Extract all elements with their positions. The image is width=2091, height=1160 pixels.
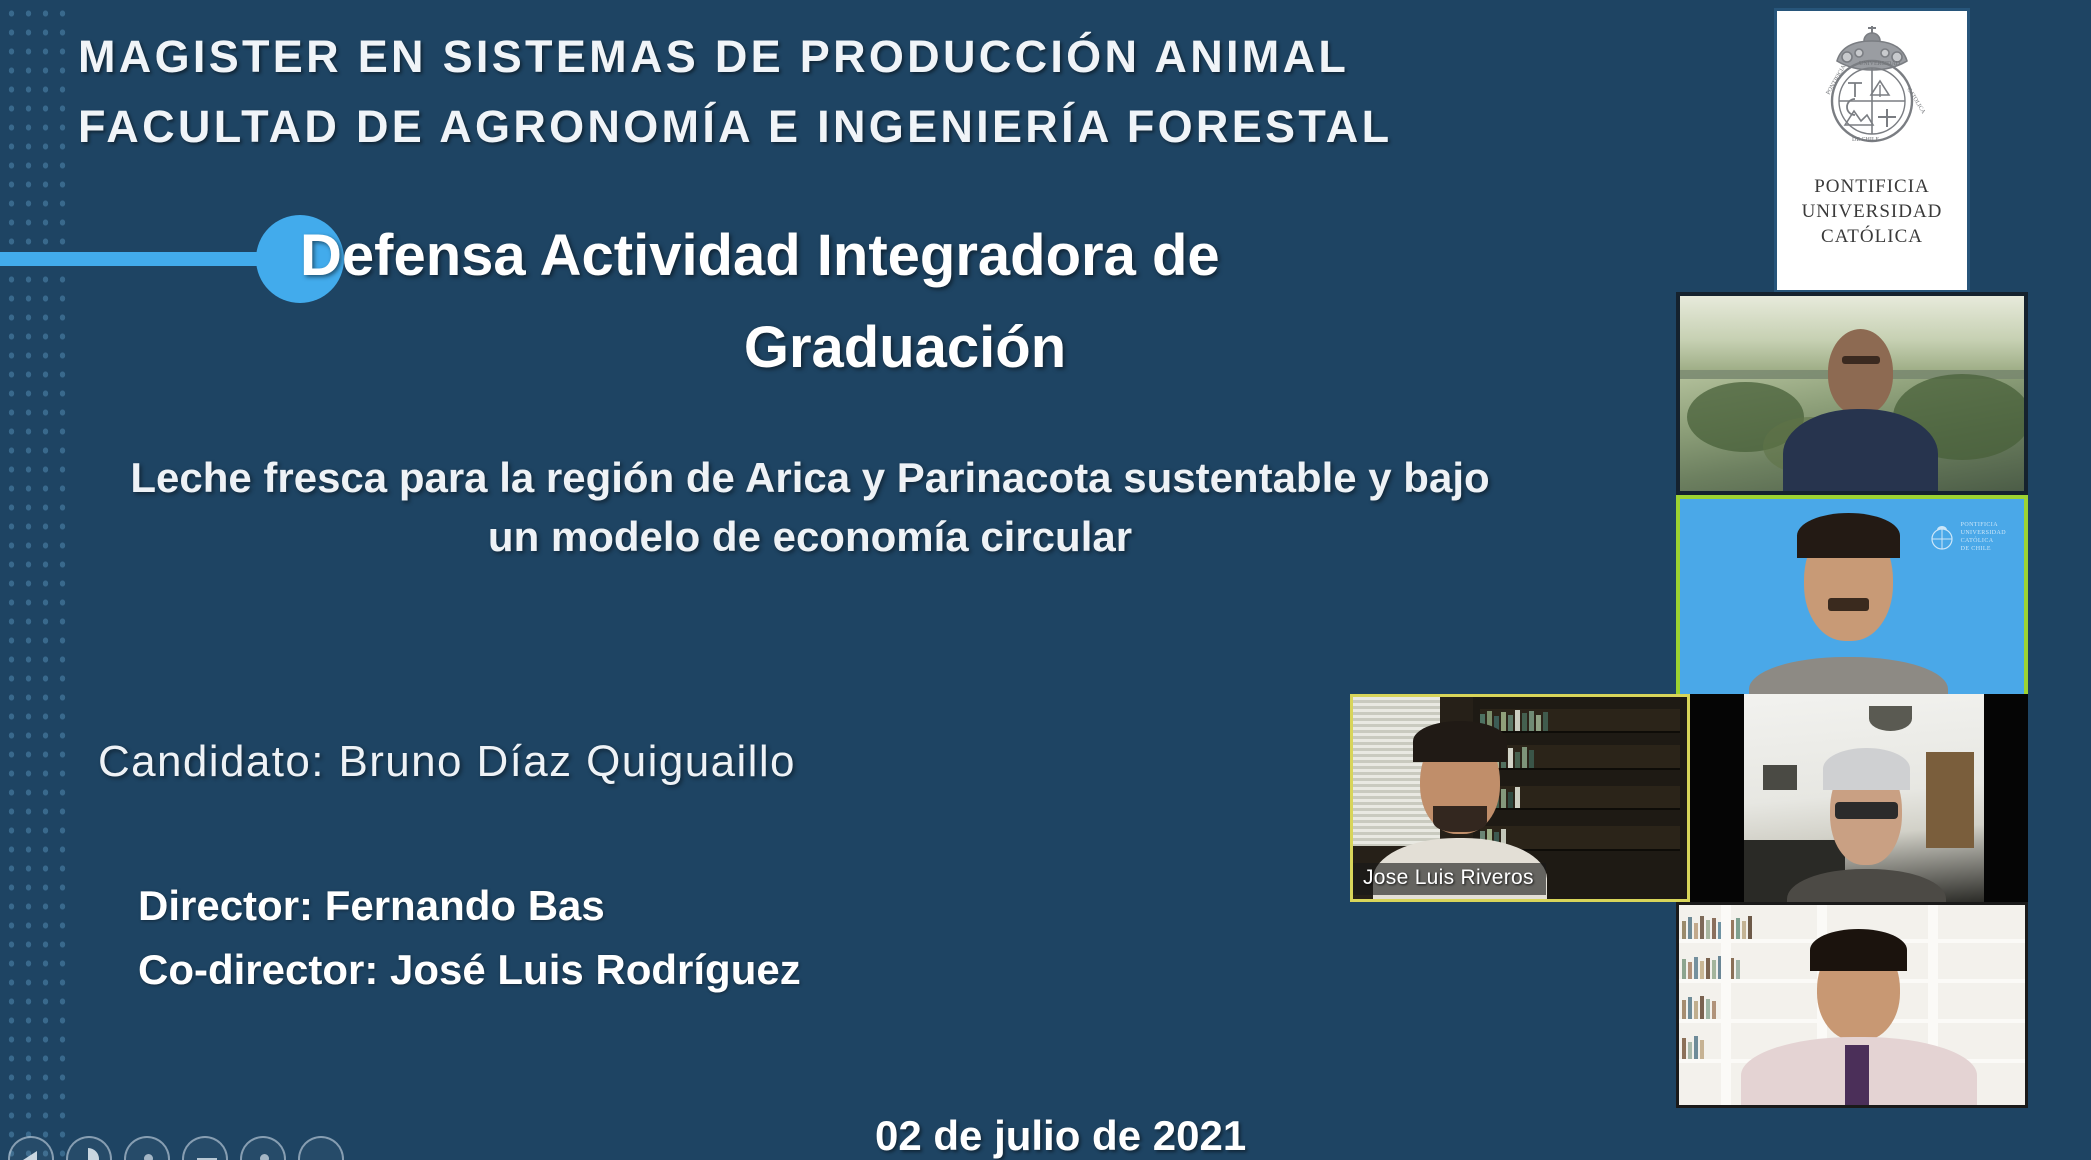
- puc-logo-line-2: UNIVERSIDAD: [1802, 199, 1943, 224]
- accent-line: [0, 252, 292, 266]
- codirector-line: Co-director: José Luis Rodríguez: [138, 938, 801, 1002]
- candidate-line: Candidato: Bruno Díaz Quiguaillo: [98, 737, 796, 787]
- slide-header: MAGISTER EN SISTEMAS DE PRODUCCIÓN ANIMA…: [78, 22, 1778, 162]
- participant-torso: [1783, 409, 1938, 495]
- previous-slide-icon[interactable]: [8, 1136, 54, 1160]
- presentation-toolbar[interactable]: [8, 1136, 344, 1160]
- participant-head: [1828, 329, 1893, 415]
- directors-block: Director: Fernando Bas Co-director: José…: [138, 874, 801, 1002]
- tile-background-detail: [1721, 905, 1731, 1105]
- pointer-icon[interactable]: [124, 1136, 170, 1160]
- puc-logo-line-1: PONTIFICIA: [1802, 174, 1943, 199]
- puc-logo-text: PONTIFICIA UNIVERSIDAD CATÓLICA: [1802, 174, 1943, 249]
- participant-hair: [1413, 721, 1507, 761]
- video-tile-participant-1[interactable]: [1676, 292, 2028, 495]
- svg-text:UNIVERSIDAD: UNIVERSIDAD: [1859, 61, 1901, 67]
- tile-background-detail: [1926, 752, 1974, 848]
- title-line-1: Defensa Actividad Integradora de: [300, 210, 1530, 302]
- svg-text:CATOLICA: CATOLICA: [1905, 87, 1926, 116]
- dotted-pattern-band: [0, 0, 66, 1160]
- participant-moustache: [1828, 598, 1869, 612]
- puc-watermark-icon: PONTIFICIAUNIVERSIDADCATÓLICADE CHILE: [1929, 521, 2006, 553]
- title-line-2: Graduación: [280, 302, 1530, 394]
- end-show-icon[interactable]: [298, 1136, 344, 1160]
- slide-title: Defensa Actividad Integradora de Graduac…: [300, 210, 1530, 394]
- header-line-2: FACULTAD DE AGRONOMÍA E INGENIERÍA FORES…: [78, 92, 1778, 162]
- slide-date: 02 de julio de 2021: [875, 1112, 1246, 1160]
- puc-crest-icon: PONTIFICIA UNIVERSIDAD CATOLICA DE CHILE: [1807, 25, 1937, 170]
- participant-hair: [1823, 748, 1909, 790]
- next-slide-icon[interactable]: [66, 1136, 112, 1160]
- glasses-icon: [1835, 802, 1897, 819]
- annotate-icon[interactable]: [182, 1136, 228, 1160]
- video-tile-participant-5[interactable]: [1676, 902, 2028, 1108]
- puc-logo-card: PONTIFICIA UNIVERSIDAD CATOLICA DE CHILE…: [1774, 8, 1970, 293]
- tile-background-detail: [1480, 786, 1680, 810]
- slide-subtitle: Leche fresca para la región de Arica y P…: [110, 448, 1510, 566]
- participant-beard: [1433, 806, 1486, 832]
- video-tile-participant-3[interactable]: Jose Luis Riveros: [1350, 694, 1690, 902]
- header-line-1: MAGISTER EN SISTEMAS DE PRODUCCIÓN ANIMA…: [78, 22, 1778, 92]
- participant-hair: [1797, 513, 1900, 558]
- tile-background-detail: [1480, 709, 1680, 733]
- tile-background-detail: [1869, 706, 1912, 731]
- video-tile-participant-4[interactable]: [1690, 694, 2028, 902]
- tile-background: [1744, 694, 1984, 902]
- tile-background-detail: [1763, 765, 1797, 790]
- video-tile-participant-2[interactable]: PONTIFICIAUNIVERSIDADCATÓLICADE CHILE: [1676, 495, 2028, 700]
- glasses-icon: [1842, 356, 1880, 364]
- svg-text:PONTIFICIA: PONTIFICIA: [1826, 64, 1848, 96]
- director-line: Director: Fernando Bas: [138, 874, 801, 938]
- puc-watermark-text: PONTIFICIAUNIVERSIDADCATÓLICADE CHILE: [1961, 521, 2006, 553]
- participant-tie: [1845, 1045, 1869, 1108]
- participant-hair: [1810, 929, 1907, 971]
- tile-background-detail: [1480, 745, 1680, 769]
- participant-name-label: Jose Luis Riveros: [1353, 863, 1546, 895]
- svg-text:DE CHILE: DE CHILE: [1852, 137, 1879, 143]
- puc-logo-line-3: CATÓLICA: [1802, 224, 1943, 249]
- options-icon[interactable]: [240, 1136, 286, 1160]
- presentation-slide-screen: MAGISTER EN SISTEMAS DE PRODUCCIÓN ANIMA…: [0, 0, 2091, 1160]
